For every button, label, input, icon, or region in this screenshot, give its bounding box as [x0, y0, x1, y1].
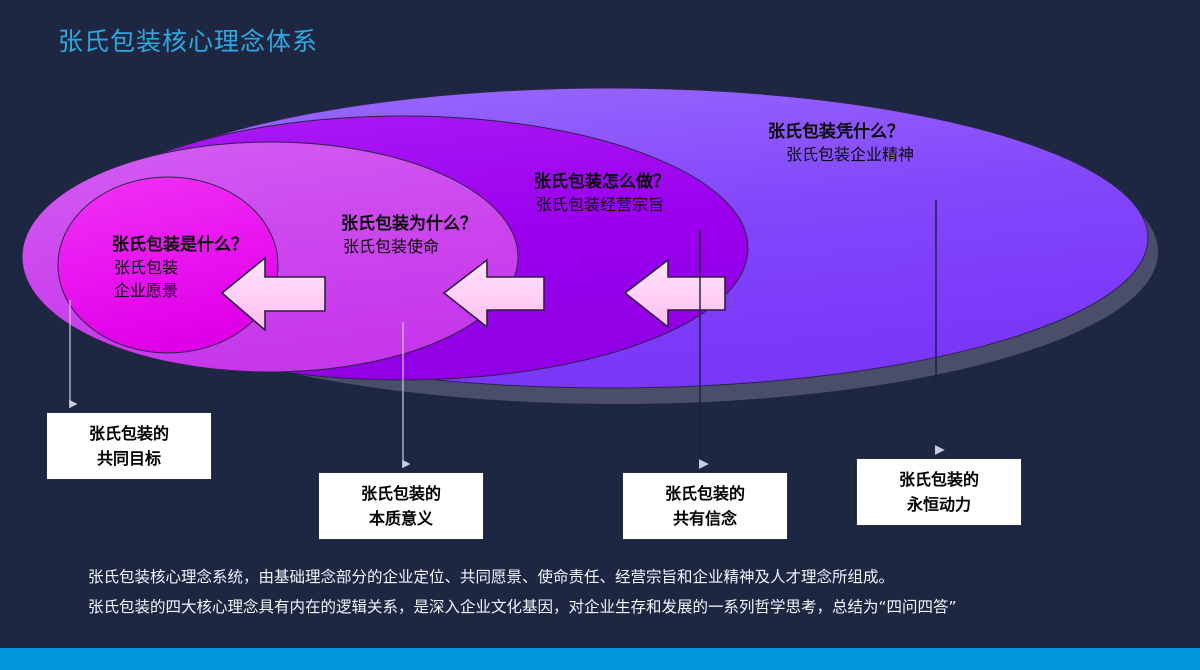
- footer-paragraph: 张氏包装核心理念系统，由基础理念部分的企业定位、共同愿景、使命责任、经营宗旨和企…: [88, 562, 1168, 622]
- ring-question-third: 张氏包装怎么做？: [534, 170, 670, 194]
- callout-box-eternal-drive[interactable]: 张氏包装的 永恒动力: [856, 458, 1022, 526]
- ring-label-outer: 张氏包装凭什么？ 张氏包装企业精神: [768, 120, 914, 167]
- ring-question-outer: 张氏包装凭什么？: [768, 120, 914, 144]
- slide-canvas: 张氏包装核心理念体系: [0, 0, 1200, 670]
- ring-label-third: 张氏包装怎么做？ 张氏包装经营宗旨: [534, 170, 670, 217]
- ring-answer-inner-line1: 张氏包装: [112, 257, 248, 280]
- ring-question-inner: 张氏包装是什么？: [112, 233, 248, 257]
- callout-line-1: 张氏包装的: [861, 468, 1017, 493]
- ring-label-second: 张氏包装为什么？ 张氏包装使命: [341, 212, 477, 259]
- footer-line-1: 张氏包装核心理念系统，由基础理念部分的企业定位、共同愿景、使命责任、经营宗旨和企…: [88, 562, 1168, 592]
- callout-line-1: 张氏包装的: [51, 422, 207, 447]
- callout-box-shared-belief[interactable]: 张氏包装的 共有信念: [622, 472, 788, 540]
- ring-answer-inner-line2: 企业愿景: [112, 280, 248, 303]
- bottom-accent-bar: [0, 648, 1200, 670]
- callout-line-2: 永恒动力: [861, 493, 1017, 518]
- ring-answer-second: 张氏包装使命: [341, 236, 477, 259]
- callout-line-1: 张氏包装的: [627, 482, 783, 507]
- ring-question-second: 张氏包装为什么？: [341, 212, 477, 236]
- callout-line-2: 本质意义: [323, 507, 479, 532]
- callout-box-essential-meaning[interactable]: 张氏包装的 本质意义: [318, 472, 484, 540]
- callout-line-2: 共同目标: [51, 447, 207, 472]
- callout-line-2: 共有信念: [627, 507, 783, 532]
- ring-answer-third: 张氏包装经营宗旨: [534, 194, 670, 217]
- callout-line-1: 张氏包装的: [323, 482, 479, 507]
- footer-line-2: 张氏包装的四大核心理念具有内在的逻辑关系，是深入企业文化基因，对企业生存和发展的…: [88, 592, 1168, 622]
- ring-label-inner: 张氏包装是什么？ 张氏包装 企业愿景: [112, 233, 248, 303]
- callout-box-common-goal[interactable]: 张氏包装的 共同目标: [46, 412, 212, 480]
- ring-answer-outer: 张氏包装企业精神: [768, 144, 914, 167]
